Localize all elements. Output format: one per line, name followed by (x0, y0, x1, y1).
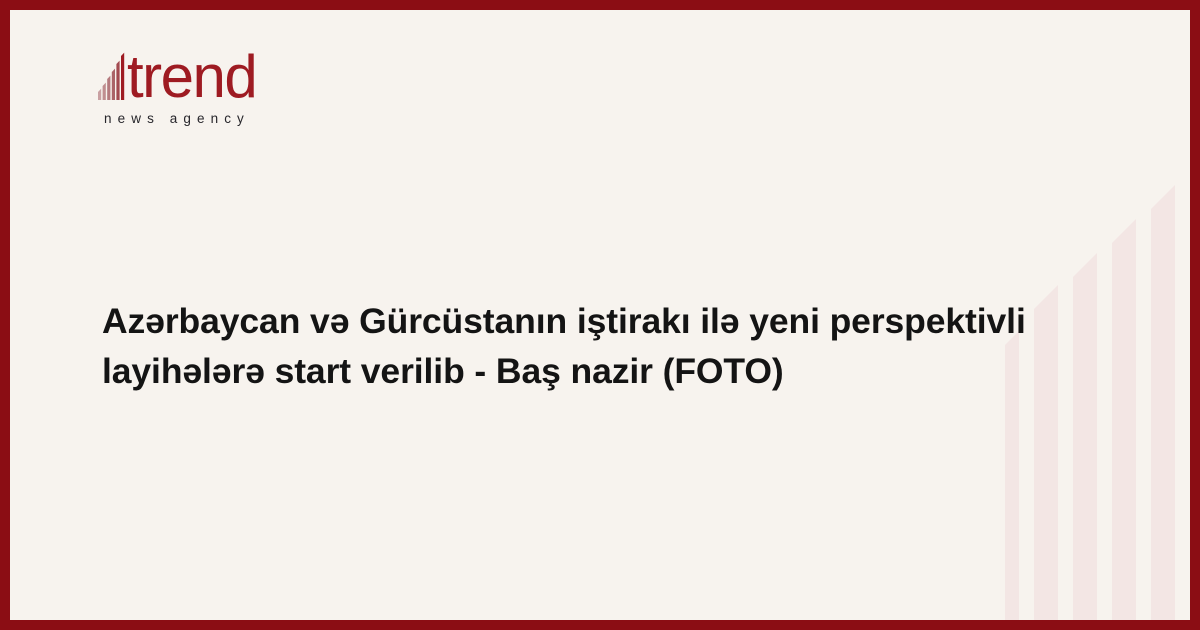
logo-mark: trend (98, 48, 256, 105)
ascending-bars-watermark (1005, 185, 1180, 620)
site-logo[interactable]: trend news agency (98, 48, 256, 126)
ascending-bars-icon (98, 48, 128, 105)
headline-line-1: Azərbaycan və Gürcüstanın iştirakı ilə y… (102, 296, 1102, 346)
card-canvas: trend news agency Azərbaycan və Gürcüsta… (10, 10, 1190, 620)
headline-line-2: layihələrə start verilib - Baş nazir (FO… (102, 346, 1102, 396)
logo-tagline: news agency (104, 111, 256, 126)
article-headline: Azərbaycan və Gürcüstanın iştirakı ilə y… (102, 296, 1102, 397)
logo-wordmark: trend (127, 48, 256, 105)
article-share-card: trend news agency Azərbaycan və Gürcüsta… (0, 0, 1200, 630)
